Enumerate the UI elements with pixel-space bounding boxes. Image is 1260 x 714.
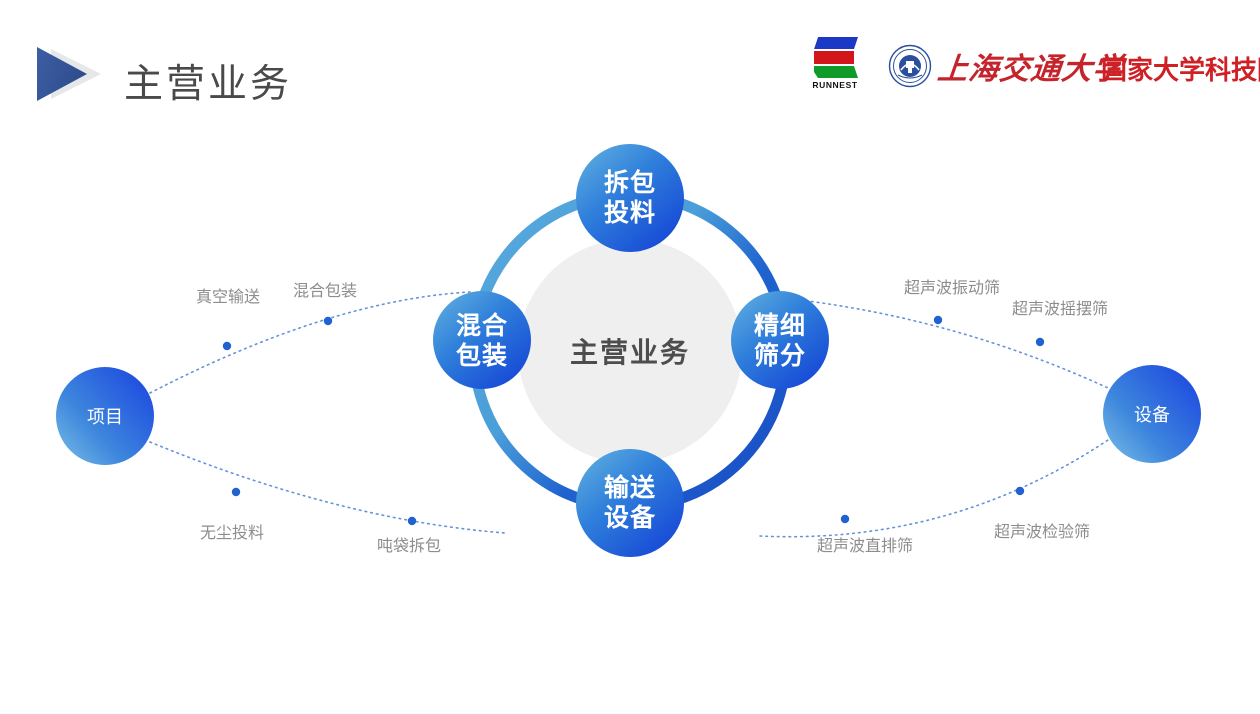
branch-label: 超声波检验筛	[994, 522, 1090, 541]
connector-dot	[223, 342, 231, 350]
connector-dot	[841, 515, 849, 523]
node-left-line2: 包装	[456, 341, 508, 370]
runnest-logo: RUNNEST	[800, 36, 870, 94]
side-node-left-label: 项目	[87, 407, 123, 428]
connector-dot	[232, 488, 240, 496]
connector-left-upper	[150, 292, 470, 393]
sjtu-logo: 上海交通大学	[888, 40, 1124, 92]
runnest-mark-icon	[808, 36, 860, 80]
sjtu-name: 上海交通大学	[936, 44, 1127, 88]
slide-header: 主营业务 RUNNEST 上海交通大学 国家大学科技园	[0, 0, 1260, 120]
side-node-left[interactable]: 项目	[56, 367, 154, 465]
node-right[interactable]: 精细 筛分	[731, 291, 829, 389]
branch-label: 超声波摇摆筛	[1012, 299, 1108, 318]
node-right-line2: 筛分	[754, 341, 806, 370]
page-title: 主营业务	[124, 53, 292, 109]
branch-label: 无尘投料	[200, 523, 264, 542]
connector-dot	[324, 317, 332, 325]
sjtu-seal-icon	[888, 44, 932, 88]
side-node-right[interactable]: 设备	[1103, 365, 1201, 463]
connector-dot	[408, 517, 416, 525]
triangle-right-icon	[33, 45, 103, 103]
runnest-wordmark: RUNNEST	[800, 80, 870, 90]
connector-left-lower	[150, 442, 505, 533]
business-diagram: 主营业务 拆包 投料 混合 包装 精细 筛分 输送 设备 项目 设备	[0, 120, 1260, 600]
branch-label: 超声波振动筛	[904, 278, 1000, 297]
node-top-line1: 拆包	[604, 168, 656, 197]
side-node-right-label: 设备	[1134, 405, 1170, 426]
connector-dot	[934, 316, 942, 324]
center-label: 主营业务	[570, 337, 690, 368]
branch-label: 吨袋拆包	[377, 536, 441, 555]
node-bottom-line1: 输送	[604, 473, 656, 502]
connector-dot	[1016, 487, 1024, 495]
branch-label: 真空输送	[196, 287, 260, 306]
node-left[interactable]: 混合 包装	[433, 291, 531, 389]
science-park-name: 国家大学科技园	[1101, 50, 1260, 87]
connector-dot	[1036, 338, 1044, 346]
node-top-line2: 投料	[604, 198, 656, 227]
branch-label: 混合包装	[293, 281, 357, 300]
node-top[interactable]: 拆包 投料	[576, 144, 684, 252]
node-bottom-line2: 设备	[604, 504, 656, 532]
node-left-line1: 混合	[456, 311, 508, 340]
node-bottom[interactable]: 输送 设备	[576, 449, 684, 557]
node-right-line1: 精细	[754, 311, 806, 340]
branch-label: 超声波直排筛	[817, 536, 913, 555]
